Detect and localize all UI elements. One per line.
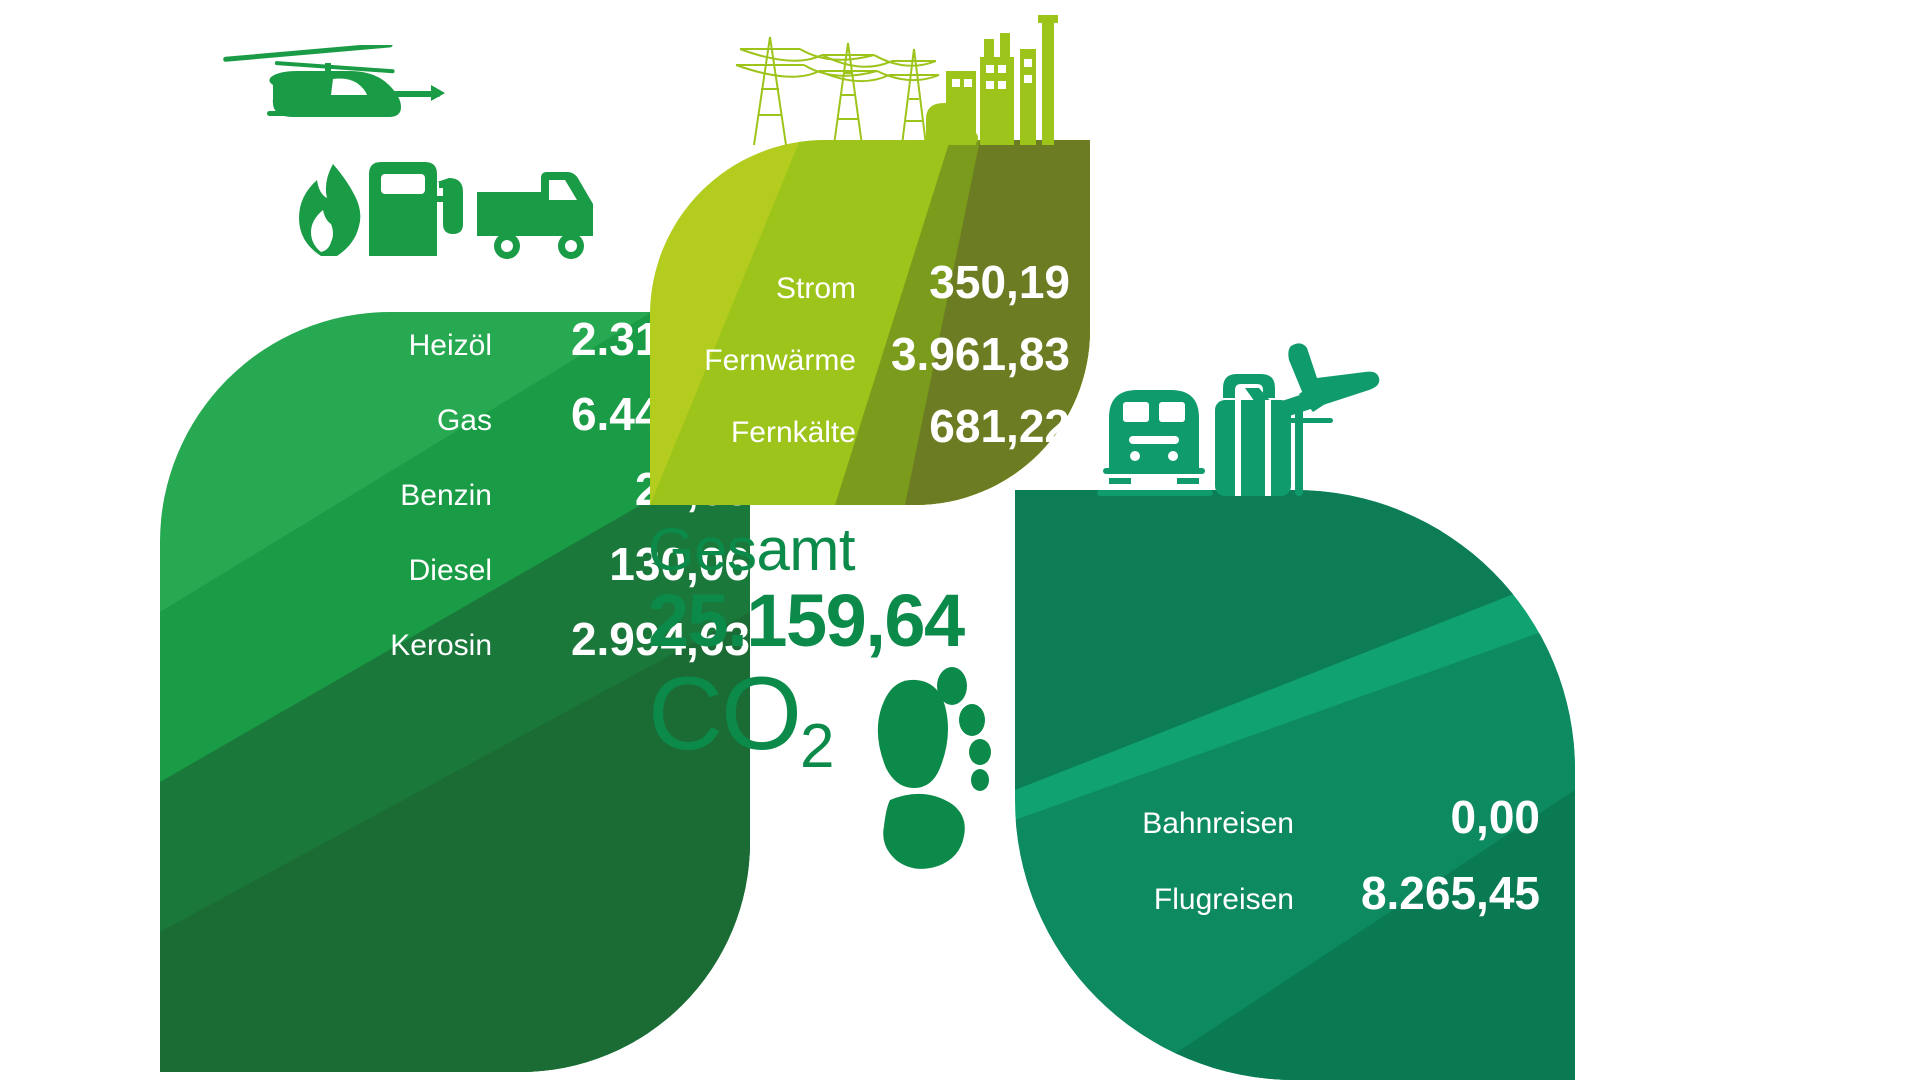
- row-label: Heizöl: [342, 329, 492, 363]
- row-label: Kerosin: [342, 629, 492, 663]
- leaf-panel-energy: Strom 350,19 Fernwärme 3.961,83 Fernkält…: [650, 140, 1090, 505]
- list-item: Bahnreisen 0,00: [1060, 790, 1540, 844]
- row-value: 8.265,45: [1310, 866, 1540, 920]
- travel-value-list: Bahnreisen 0,00 Flugreisen 8.265,45: [1060, 790, 1540, 942]
- travel-group-icons: [1095, 340, 1395, 500]
- list-item: Fernwärme 3.961,83: [680, 327, 1070, 381]
- row-value: 3.961,83: [870, 327, 1070, 381]
- energy-value-list: Strom 350,19 Fernwärme 3.961,83 Fernkält…: [680, 255, 1070, 471]
- row-label: Strom: [681, 272, 856, 306]
- row-label: Diesel: [342, 554, 492, 588]
- row-label: Flugreisen: [1079, 883, 1294, 917]
- row-label: Gas: [342, 404, 492, 438]
- industrial-plant-icon: [926, 15, 1058, 145]
- row-value: 350,19: [870, 255, 1070, 309]
- fuel-group-icons: [295, 160, 605, 260]
- footprint-icon: [856, 650, 996, 870]
- co2-subscript: 2: [800, 712, 832, 781]
- row-label: Bahnreisen: [1079, 807, 1294, 841]
- infographic-canvas: Heizöl 2.310,84 Gas 6.443,79 Benzin 21,6…: [0, 0, 1920, 1080]
- list-item: Flugreisen 8.265,45: [1060, 866, 1540, 920]
- row-label: Benzin: [342, 479, 492, 513]
- helicopter-icon: [215, 45, 455, 135]
- row-label: Fernkälte: [681, 416, 856, 450]
- leaf-shape-travel: [1015, 490, 1575, 1080]
- total-value: 25.159,64: [648, 582, 988, 660]
- leaf-panel-travel: Bahnreisen 0,00 Flugreisen 8.265,45: [1015, 490, 1575, 1080]
- total-label: Gesamt: [648, 520, 988, 580]
- power-lines-icon: [736, 37, 939, 145]
- list-item: Fernkälte 681,22: [680, 399, 1070, 453]
- energy-group-icons: [730, 15, 1075, 150]
- flame-icon: [299, 164, 360, 256]
- suitcase-icon: [1215, 374, 1337, 496]
- list-item: Strom 350,19: [680, 255, 1070, 309]
- row-value: 681,22: [870, 399, 1070, 453]
- row-value: 0,00: [1310, 790, 1540, 844]
- row-label: Fernwärme: [681, 344, 856, 378]
